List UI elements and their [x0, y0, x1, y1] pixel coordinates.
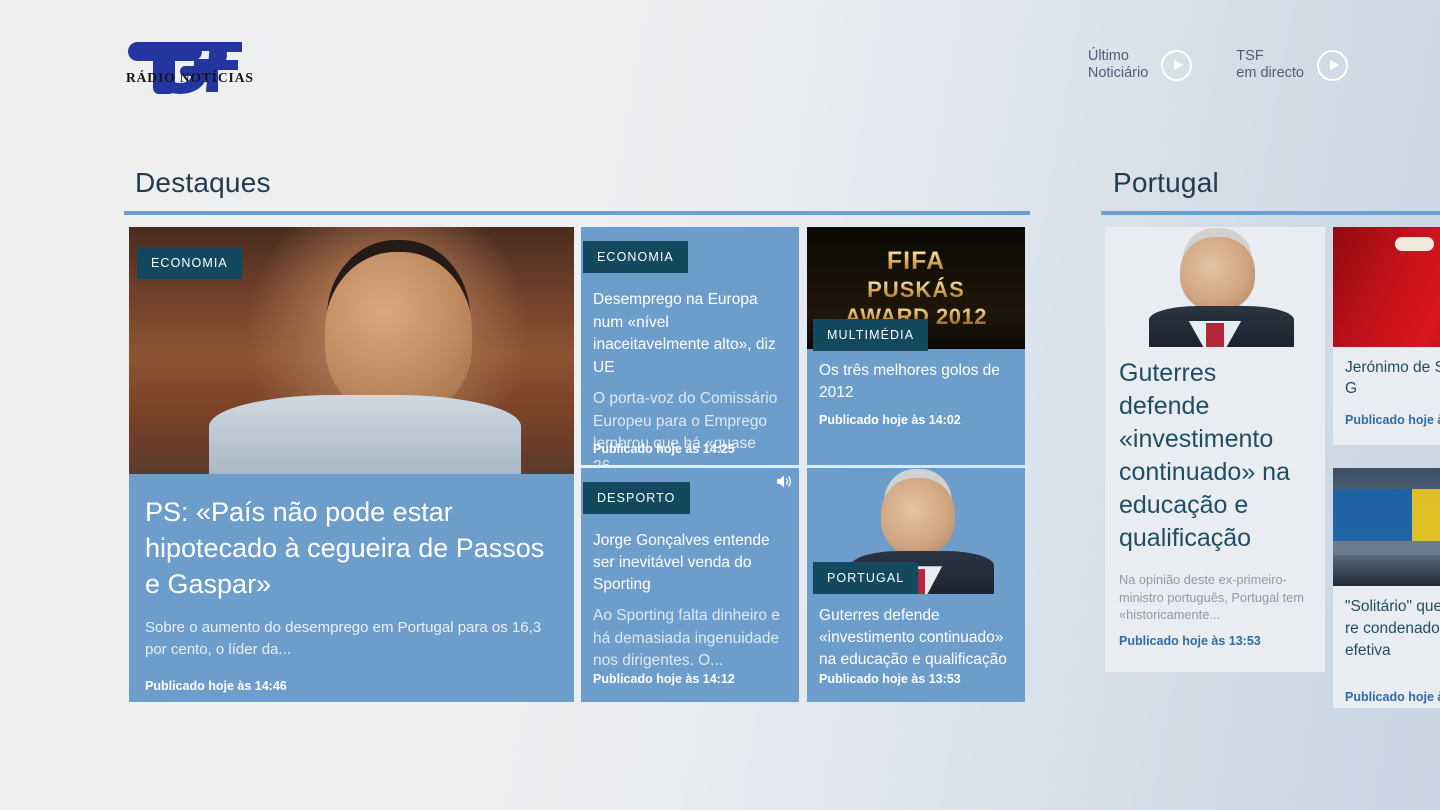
page-header: RÁDIO NOTÍCIAS Último Noticiário TSF em …	[0, 0, 1440, 140]
speaker-icon	[776, 474, 792, 489]
tsf-logo-icon	[124, 36, 250, 102]
portugal-article-title: Guterres defende «investimento continuad…	[819, 605, 1013, 671]
fifa-logo-text: FIFA	[887, 247, 945, 276]
section-rule-destaques	[124, 211, 1030, 215]
multimedia-article-timestamp: Publicado hoje às 14:02	[819, 413, 961, 427]
tsf-em-directo-label: TSF em directo	[1236, 48, 1304, 82]
portugal-card-image: es	[1333, 468, 1440, 586]
desporto-article-title: Jorge Gonçalves entende ser inevitável v…	[593, 530, 787, 596]
section-title-portugal[interactable]: Portugal	[1113, 167, 1219, 199]
portugal-article-timestamp: Publicado hoje às 13:53	[819, 672, 961, 686]
portugal-card-solitario[interactable]: es "Solitário" que bancos com re condena…	[1333, 468, 1440, 708]
economia-article-title: Desemprego na Europa num «nível inaceita…	[593, 289, 787, 379]
logo-mark: RÁDIO NOTÍCIAS	[124, 36, 250, 86]
section-title-destaques[interactable]: Destaques	[135, 167, 271, 199]
hero-article-tile[interactable]: ECONOMIA PS: «País não pode estar hipote…	[129, 227, 574, 702]
portugal-card-title: Guterres defende «investimento continuad…	[1119, 357, 1311, 555]
multimedia-article-tile[interactable]: FIFA PUSKÁS AWARD 2012 MULTIMÉDIA Os trê…	[807, 227, 1025, 465]
logo-subtitle: RÁDIO NOTÍCIAS	[126, 70, 254, 86]
portugal-card-timestamp: Publicado hoje às 13:53	[1119, 634, 1261, 648]
hero-article-timestamp: Publicado hoje às 14:46	[145, 679, 556, 693]
portugal-card-title: Jerónimo de S demissão do G	[1345, 357, 1440, 399]
header-actions: Último Noticiário TSF em directo	[1088, 48, 1348, 82]
category-badge-desporto: DESPORTO	[583, 482, 690, 514]
portugal-card-guterres[interactable]: Guterres defende «investimento continuad…	[1105, 227, 1325, 672]
hero-article-title: PS: «País não pode estar hipotecado à ce…	[145, 494, 556, 602]
economia-article-timestamp: Publicado hoje às 14:25	[593, 442, 735, 456]
category-badge-multimedia: MULTIMÉDIA	[813, 319, 928, 351]
desporto-article-timestamp: Publicado hoje às 14:12	[593, 672, 735, 686]
portugal-card-image	[1105, 227, 1325, 347]
category-badge-portugal: PORTUGAL	[813, 562, 918, 594]
portugal-article-tile[interactable]: PORTUGAL Guterres defende «investimento …	[807, 468, 1025, 702]
category-badge-economia: ECONOMIA	[583, 241, 688, 273]
ultimo-noticiario-label: Último Noticiário	[1088, 48, 1148, 82]
tsf-logo[interactable]: RÁDIO NOTÍCIAS	[124, 36, 250, 102]
portugal-card-jeronimo[interactable]: Jerónimo de S demissão do G Publicado ho…	[1333, 227, 1440, 445]
portugal-card-timestamp: Publicado hoje à	[1345, 413, 1440, 427]
tsf-em-directo-button[interactable]: TSF em directo	[1236, 48, 1348, 82]
play-icon[interactable]	[1317, 50, 1348, 81]
puskas-text: PUSKÁS	[867, 277, 965, 303]
portugal-card-image	[1333, 227, 1440, 347]
ultimo-noticiario-button[interactable]: Último Noticiário	[1088, 48, 1192, 82]
hero-article-description: Sobre o aumento do desemprego em Portuga…	[145, 617, 556, 661]
section-rule-portugal	[1101, 211, 1440, 215]
portugal-card-title: "Solitário" que bancos com re condenado …	[1345, 596, 1440, 662]
portugal-card-description: Na opinião deste ex-primeiro-ministro po…	[1119, 571, 1311, 624]
play-icon[interactable]	[1161, 50, 1192, 81]
economia-article-tile[interactable]: ECONOMIA Desemprego na Europa num «nível…	[581, 227, 799, 465]
multimedia-article-title: Os três melhores golos de 2012	[819, 360, 1013, 404]
portugal-card-timestamp: Publicado hoje à	[1345, 690, 1440, 704]
desporto-article-description: Ao Sporting falta dinheiro e há demasiad…	[593, 605, 787, 673]
category-badge-economia: ECONOMIA	[137, 247, 242, 279]
desporto-article-tile[interactable]: DESPORTO Jorge Gonçalves entende ser ine…	[581, 468, 799, 702]
